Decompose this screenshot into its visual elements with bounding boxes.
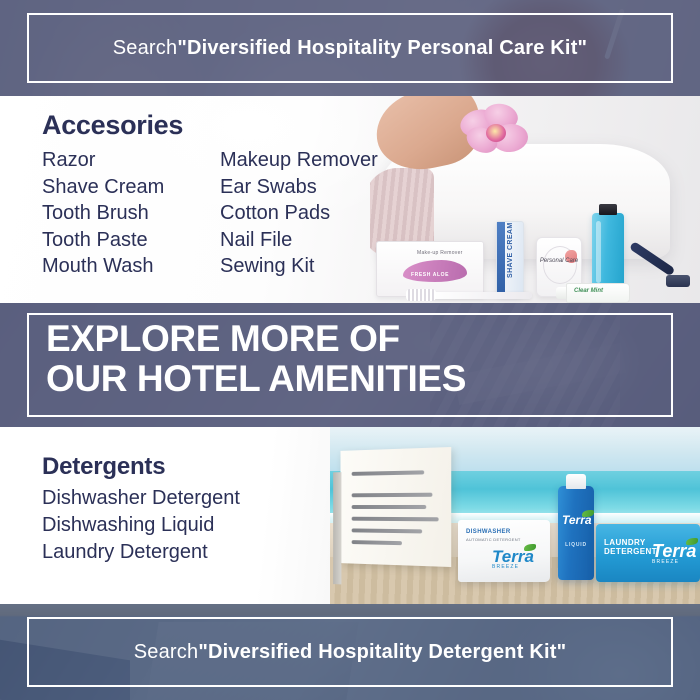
headline-text: EXPLORE MORE OF OUR HOTEL AMENITIES bbox=[46, 319, 466, 399]
terra-breeze-logo: Terra BREEZE bbox=[492, 548, 534, 570]
handwriting-line bbox=[352, 505, 427, 509]
accessories-heading: Accesories bbox=[42, 110, 398, 141]
list-item: Razor bbox=[42, 147, 220, 174]
handwriting-line bbox=[352, 528, 422, 533]
top-search-banner: Search "Diversified Hospitality Personal… bbox=[0, 0, 700, 96]
wipe-label-top: Make-up Remover bbox=[417, 250, 463, 256]
list-item: Nail File bbox=[220, 227, 398, 254]
dishwasher-packet-subtitle: AUTOMATIC DETERGENT bbox=[466, 537, 521, 542]
terra-breeze-logo: Terra bbox=[562, 514, 592, 526]
wipe-swoosh bbox=[403, 260, 467, 282]
welcome-note-card bbox=[340, 447, 451, 567]
accessories-column-right: Makeup Remover Ear Swabs Cotton Pads Nai… bbox=[220, 147, 398, 280]
headline-banner: EXPLORE MORE OF OUR HOTEL AMENITIES bbox=[0, 303, 700, 427]
list-item: Cotton Pads bbox=[220, 200, 398, 227]
accessories-column-left: Razor Shave Cream Tooth Brush Tooth Past… bbox=[42, 147, 220, 280]
accessories-columns: Razor Shave Cream Tooth Brush Tooth Past… bbox=[42, 147, 398, 280]
bottom-search-query: "Diversified Hospitality Detergent Kit" bbox=[198, 641, 566, 664]
handwriting-line bbox=[352, 517, 439, 522]
orchid-flower-icon bbox=[458, 104, 532, 156]
headline-line-2: OUR HOTEL AMENITIES bbox=[46, 359, 466, 399]
soap-label: Personal Care bbox=[537, 258, 581, 264]
bottle-cap bbox=[599, 204, 617, 215]
list-item: Laundry Detergent bbox=[42, 539, 240, 566]
leaf-icon bbox=[686, 538, 698, 545]
accessories-text-block: Accesories Razor Shave Cream Tooth Brush… bbox=[42, 110, 398, 280]
shave-cream-label: SHAVE CREAM bbox=[507, 222, 514, 278]
laundry-label: LAUNDRY DETERGENT bbox=[604, 538, 657, 556]
liquid-label: LIQUID bbox=[558, 542, 594, 548]
detergents-text-block: Detergents Dishwasher Detergent Dishwash… bbox=[42, 453, 240, 566]
bottom-search-text: Search "Diversified Hospitality Detergen… bbox=[0, 604, 700, 700]
kit-products-row: Make-up Remover FRESH ALOE SHAVE CREAM P… bbox=[370, 211, 700, 303]
list-item: Tooth Brush bbox=[42, 200, 220, 227]
list-item: Sewing Kit bbox=[220, 253, 398, 280]
orchid-center bbox=[486, 124, 506, 142]
bottle-highlight bbox=[596, 221, 601, 283]
dishwasher-packet-title: DISHWASHER bbox=[466, 529, 511, 535]
top-search-query: "Diversified Hospitality Personal Care K… bbox=[177, 37, 587, 60]
list-item: Dishwashing Liquid bbox=[42, 512, 240, 539]
list-item: Shave Cream bbox=[42, 174, 220, 201]
bottle-cap bbox=[566, 474, 586, 489]
dishwasher-detergent-packet: DISHWASHER AUTOMATIC DETERGENT Terra BRE… bbox=[458, 520, 550, 582]
toothpaste-tube: Clear Mint bbox=[556, 283, 630, 303]
amenities-infographic: Search "Diversified Hospitality Personal… bbox=[0, 0, 700, 700]
top-search-text: Search "Diversified Hospitality Personal… bbox=[0, 0, 700, 96]
personal-care-kit-photo: Make-up Remover FRESH ALOE SHAVE CREAM P… bbox=[370, 96, 700, 303]
shave-cream-tube: SHAVE CREAM bbox=[496, 221, 524, 297]
laundry-label-line-2: DETERGENT bbox=[604, 547, 657, 556]
list-item: Dishwasher Detergent bbox=[42, 485, 240, 512]
toothbrush-handle bbox=[432, 292, 532, 299]
leaf-icon bbox=[524, 544, 536, 551]
card-fold bbox=[333, 472, 341, 584]
toothpaste-label: Clear Mint bbox=[574, 288, 603, 294]
list-item: Ear Swabs bbox=[220, 174, 398, 201]
laundry-detergent-pouch: LAUNDRY DETERGENT Terra BREEZE bbox=[596, 524, 700, 582]
list-item: Makeup Remover bbox=[220, 147, 398, 174]
top-search-lead: Search bbox=[113, 37, 178, 60]
razor bbox=[634, 237, 692, 297]
bottom-search-banner: Search "Diversified Hospitality Detergen… bbox=[0, 604, 700, 700]
dishwashing-liquid-bottle: Terra LIQUID bbox=[558, 486, 594, 580]
handwriting-line bbox=[352, 470, 425, 475]
handwriting-line bbox=[352, 493, 433, 498]
toothbrush bbox=[406, 287, 534, 303]
detergent-kit-photo: DISHWASHER AUTOMATIC DETERGENT Terra BRE… bbox=[330, 427, 700, 604]
handwriting-line bbox=[352, 540, 402, 545]
wipe-label-bottom: FRESH ALOE bbox=[411, 272, 449, 278]
list-item: Mouth Wash bbox=[42, 253, 220, 280]
accessories-section: Make-up Remover FRESH ALOE SHAVE CREAM P… bbox=[0, 96, 700, 303]
toothbrush-bristles bbox=[406, 289, 436, 301]
detergents-list: Dishwasher Detergent Dishwashing Liquid … bbox=[42, 485, 240, 566]
razor-head bbox=[666, 275, 690, 287]
razor-handle bbox=[629, 241, 675, 276]
headline-line-1: EXPLORE MORE OF bbox=[46, 319, 466, 359]
detergents-heading: Detergents bbox=[42, 453, 240, 481]
bottom-search-lead: Search bbox=[134, 641, 199, 664]
detergents-section: DISHWASHER AUTOMATIC DETERGENT Terra BRE… bbox=[0, 427, 700, 604]
laundry-label-line-1: LAUNDRY bbox=[604, 538, 646, 547]
list-item: Tooth Paste bbox=[42, 227, 220, 254]
terra-breeze-logo: Terra BREEZE bbox=[652, 542, 696, 565]
